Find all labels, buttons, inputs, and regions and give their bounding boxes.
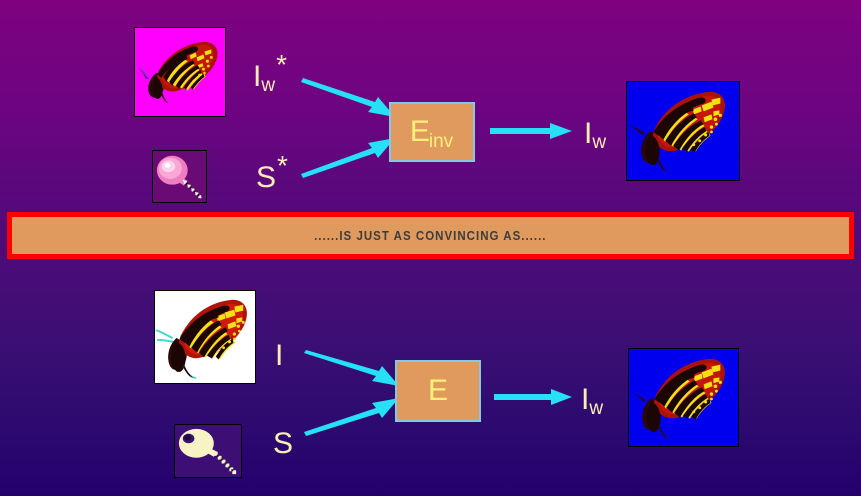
- pink-flower-illustration: [153, 151, 206, 202]
- arrow-iw-star-to-einv: [300, 78, 395, 122]
- picture-pink-flower-model: [152, 150, 207, 203]
- label-sub: w: [589, 398, 603, 419]
- process-box-label: E: [428, 376, 448, 406]
- label-iw-top-output: Iw: [584, 119, 606, 149]
- arrow-i-to-e: [303, 350, 399, 390]
- label-main: S: [273, 427, 293, 460]
- label-i-bottom: I: [275, 341, 283, 371]
- slide-canvas: Iw* S* Einv Iw: [0, 0, 861, 496]
- label-s-bottom: S: [273, 429, 293, 459]
- banner-is-just-as-convincing-as: ......IS JUST AS CONVINCING AS......: [7, 212, 854, 259]
- label-main: I: [275, 339, 283, 372]
- label-iw-bottom-output: Iw: [581, 385, 603, 415]
- picture-butterfly-on-white: [154, 290, 256, 384]
- picture-butterfly-on-blue-top: [626, 81, 740, 181]
- arrow-s-to-e: [303, 390, 399, 436]
- picture-butterfly-on-blue-bottom: [628, 348, 739, 447]
- label-s-star-top: S*: [256, 163, 287, 193]
- arrow-e-to-iw: [494, 386, 572, 408]
- butterfly-illustration: [135, 28, 225, 116]
- arrow-s-star-to-einv: [300, 130, 395, 178]
- label-sub: w: [592, 132, 606, 153]
- process-box-e: E: [395, 360, 481, 422]
- butterfly-illustration: [155, 291, 255, 383]
- label-star: *: [276, 49, 287, 80]
- process-box-label: E: [410, 117, 430, 147]
- label-iw-star-top: Iw*: [253, 62, 286, 92]
- banner-text: ......IS JUST AS CONVINCING AS......: [314, 229, 546, 243]
- label-main: S: [256, 161, 276, 194]
- picture-cream-key-model: [174, 424, 242, 478]
- label-star: *: [277, 150, 288, 181]
- arrow-einv-to-iw: [490, 120, 572, 142]
- process-box-sub: inv: [429, 132, 453, 151]
- picture-butterfly-on-magenta: [134, 27, 226, 117]
- label-sub: w: [261, 75, 275, 96]
- process-box-einv: Einv: [389, 102, 475, 162]
- butterfly-illustration: [629, 349, 738, 446]
- butterfly-illustration: [627, 82, 739, 180]
- cream-key-illustration: [175, 425, 241, 477]
